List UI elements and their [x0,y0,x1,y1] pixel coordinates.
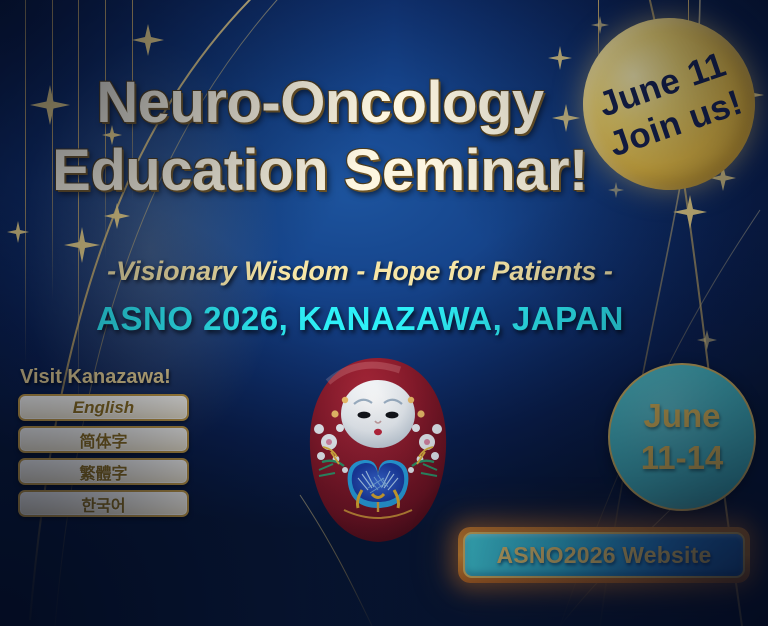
website-button-frame: ASNO2026 Website [458,527,750,583]
asno2026-website-button[interactable]: ASNO2026 Website [463,532,745,578]
date-badge-line2: 11-14 [641,437,724,479]
event-date-badge: June 11-14 [608,363,756,511]
page-title-line1: Neuro-Oncology [0,72,640,134]
sparkle-star-icon [591,16,609,34]
visit-kanazawa-title: Visit Kanazawa! [20,366,198,389]
poster-canvas: Neuro-Oncology Education Seminar! -Visio… [0,0,768,626]
tagline: -Visionary Wisdom - Hope for Patients - [0,256,720,287]
event-location-line: ASNO 2026, KANAZAWA, JAPAN [0,300,720,338]
language-button-simplified-chinese[interactable]: 简体字 [18,426,189,453]
daruma-doll-icon [288,352,468,562]
website-button-label: ASNO2026 Website [497,542,712,569]
language-button-traditional-chinese[interactable]: 繁體字 [18,458,189,485]
page-title-line2: Education Seminar! [0,140,640,202]
date-badge-line1: June [643,395,720,437]
language-button-korean[interactable]: 한국어 [18,490,189,517]
visit-kanazawa-block: Visit Kanazawa! English 简体字 繁體字 한국어 [18,366,198,522]
language-button-english[interactable]: English [18,394,189,421]
sparkle-star-icon [548,46,572,70]
